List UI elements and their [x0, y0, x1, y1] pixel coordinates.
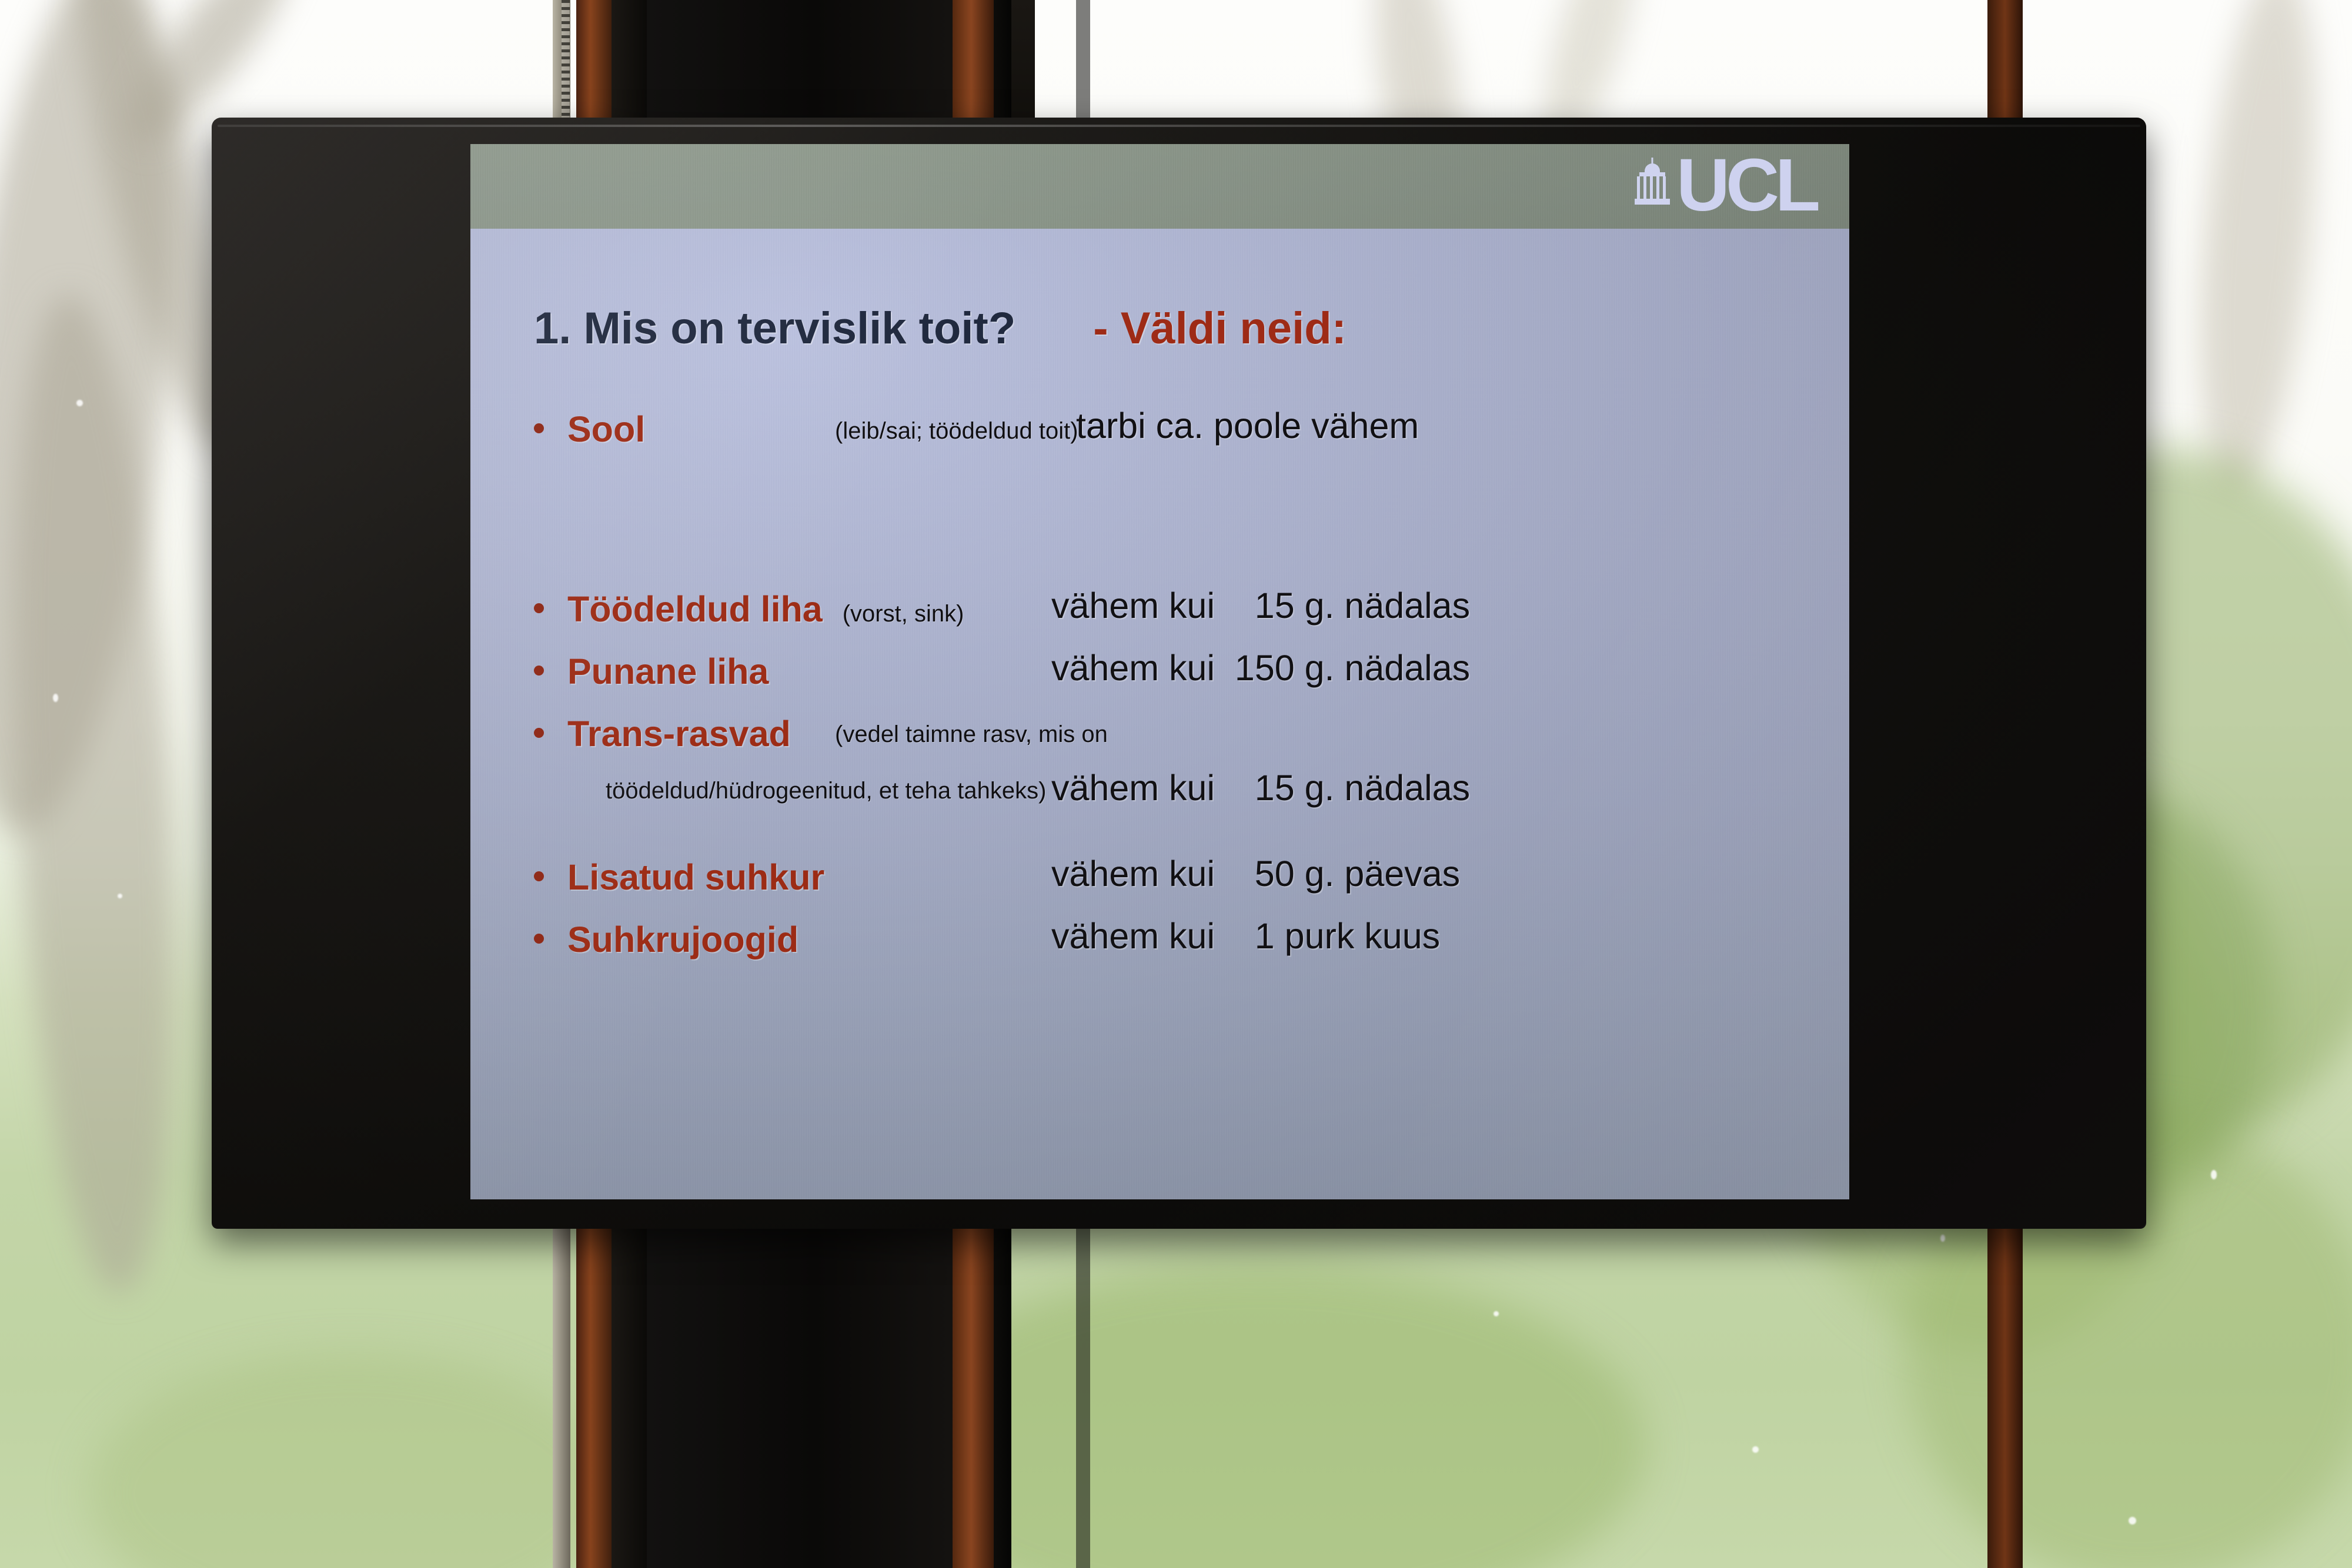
- water-droplet: [1494, 1311, 1499, 1316]
- page-title: 1. Mis on tervislik toit? - Väldi neid:: [534, 303, 1347, 354]
- list-item-term: Sool: [567, 409, 645, 450]
- list-item-note: (vorst, sink): [843, 601, 964, 627]
- ucl-wordmark: UCL: [1676, 155, 1816, 215]
- list-item-term: Punane liha: [567, 651, 769, 692]
- list-item-note-continued: töödeldud/hüdrogeenitud, et teha tahkeks…: [606, 778, 1046, 804]
- list-item-note: (leib/sai; töödeldud toit): [835, 418, 1078, 444]
- bullet-icon: [534, 871, 544, 881]
- slide-content: 1. Mis on tervislik toit? - Väldi neid: …: [470, 229, 1849, 1199]
- bullet-icon: [534, 603, 544, 613]
- ucl-logo: UCL: [1634, 155, 1816, 215]
- list-item: Suhkrujoogid: [534, 919, 799, 960]
- list-item-term: Töödeldud liha: [567, 589, 823, 630]
- list-item: Lisatud suhkur: [534, 857, 824, 898]
- water-droplet: [2129, 1517, 2136, 1524]
- display-monitor: UCL 1. Mis on tervislik toit? - Väldi ne…: [212, 118, 2146, 1229]
- list-item-amount: vähem kui 1 purk kuus: [1051, 915, 1440, 957]
- bullet-icon: [534, 423, 544, 433]
- water-droplet: [118, 894, 122, 898]
- list-item: Punane liha: [534, 651, 769, 692]
- water-droplet: [53, 694, 58, 702]
- photo-scene: UCL 1. Mis on tervislik toit? - Väldi ne…: [0, 0, 2352, 1568]
- water-droplet: [1752, 1446, 1759, 1453]
- ucl-dome-portico-icon: [1634, 158, 1671, 208]
- water-droplet: [1940, 1235, 1945, 1242]
- bullet-icon: [534, 666, 544, 676]
- list-item-amount: vähem kui 50 g. päevas: [1051, 853, 1460, 894]
- bullet-icon: [534, 728, 544, 738]
- list-item-term: Suhkrujoogid: [567, 919, 799, 960]
- list-item-term: Trans-rasvad: [567, 713, 791, 754]
- list-item: Trans-rasvad: [534, 713, 791, 754]
- list-item-amount: tarbi ca. poole vähem: [1076, 405, 1419, 446]
- slide-title-main: 1. Mis on tervislik toit?: [534, 303, 1015, 354]
- list-item: Sool: [534, 409, 645, 450]
- water-droplet: [76, 400, 83, 406]
- bullet-icon: [534, 934, 544, 944]
- water-droplet: [2211, 1170, 2217, 1179]
- list-item-amount: vähem kui 15 g. nädalas: [1051, 585, 1470, 626]
- list-item-amount: vähem kui 15 g. nädalas: [1051, 767, 1470, 808]
- list-item-term: Lisatud suhkur: [567, 857, 824, 898]
- list-item-amount: vähem kui 150 g. nädalas: [1051, 647, 1470, 688]
- list-item-note: (vedel taimne rasv, mis on: [835, 721, 1108, 748]
- list-item: Töödeldud liha (vorst, sink): [534, 589, 964, 630]
- slide-title-accent: - Väldi neid:: [1093, 303, 1347, 354]
- presentation-slide: UCL 1. Mis on tervislik toit? - Väldi ne…: [470, 144, 1849, 1199]
